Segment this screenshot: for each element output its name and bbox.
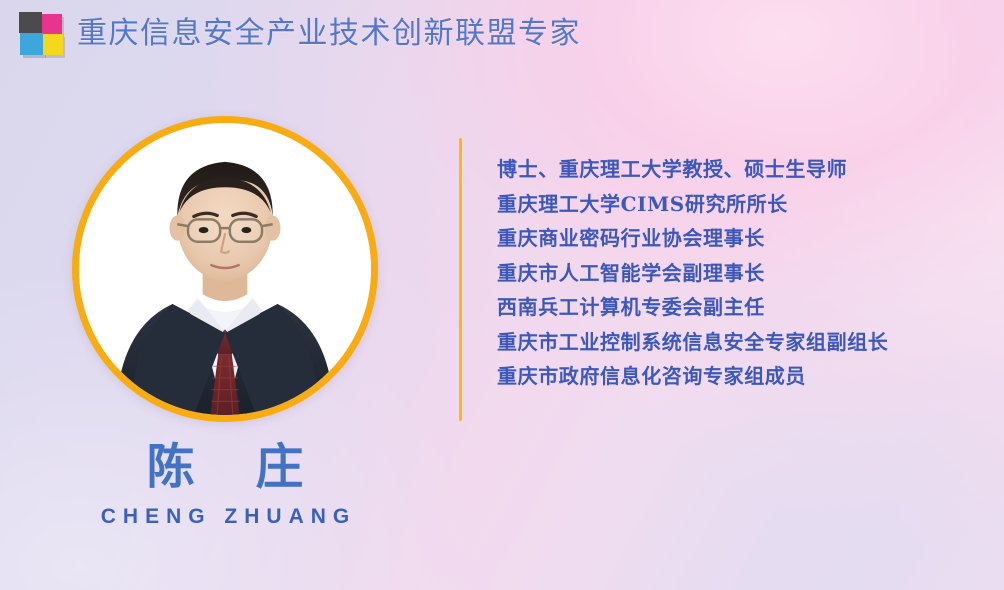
bio-line: 重庆市工业控制系统信息安全专家组副组长 <box>497 325 987 360</box>
bio-line: 重庆市政府信息化咨询专家组成员 <box>497 359 987 394</box>
logo-square-top-left-icon <box>19 12 42 33</box>
profile-name-pinyin: CHENG ZHUANG <box>72 505 378 529</box>
bio-line: 重庆理工大学CIMS研究所所长 <box>497 187 987 222</box>
logo-square-bottom-right-icon <box>43 34 63 55</box>
header: 重庆信息安全产业技术创新联盟专家 <box>18 10 581 58</box>
bio-line: 重庆市人工智能学会副理事长 <box>497 256 987 291</box>
portrait-block: 陈 庄 CHENG ZHUANG <box>72 116 392 529</box>
vertical-divider <box>459 138 462 421</box>
profile-name-cn: 陈 庄 <box>72 442 378 492</box>
portrait-photo <box>72 116 378 422</box>
slide-canvas: 重庆信息安全产业技术创新联盟专家 <box>0 0 1004 590</box>
cmyk-squares-logo-icon <box>18 10 64 58</box>
bio-line: 博士、重庆理工大学教授、硕士生导师 <box>497 152 987 187</box>
logo-square-top-right-icon <box>42 14 62 34</box>
logo-square-bottom-left-icon <box>20 33 43 55</box>
bio-line: 西南兵工计算机专委会副主任 <box>497 290 987 325</box>
bio-list: 博士、重庆理工大学教授、硕士生导师 重庆理工大学CIMS研究所所长 重庆商业密码… <box>497 152 987 394</box>
bio-line: 重庆商业密码行业协会理事长 <box>497 221 987 256</box>
page-title: 重庆信息安全产业技术创新联盟专家 <box>77 19 581 49</box>
